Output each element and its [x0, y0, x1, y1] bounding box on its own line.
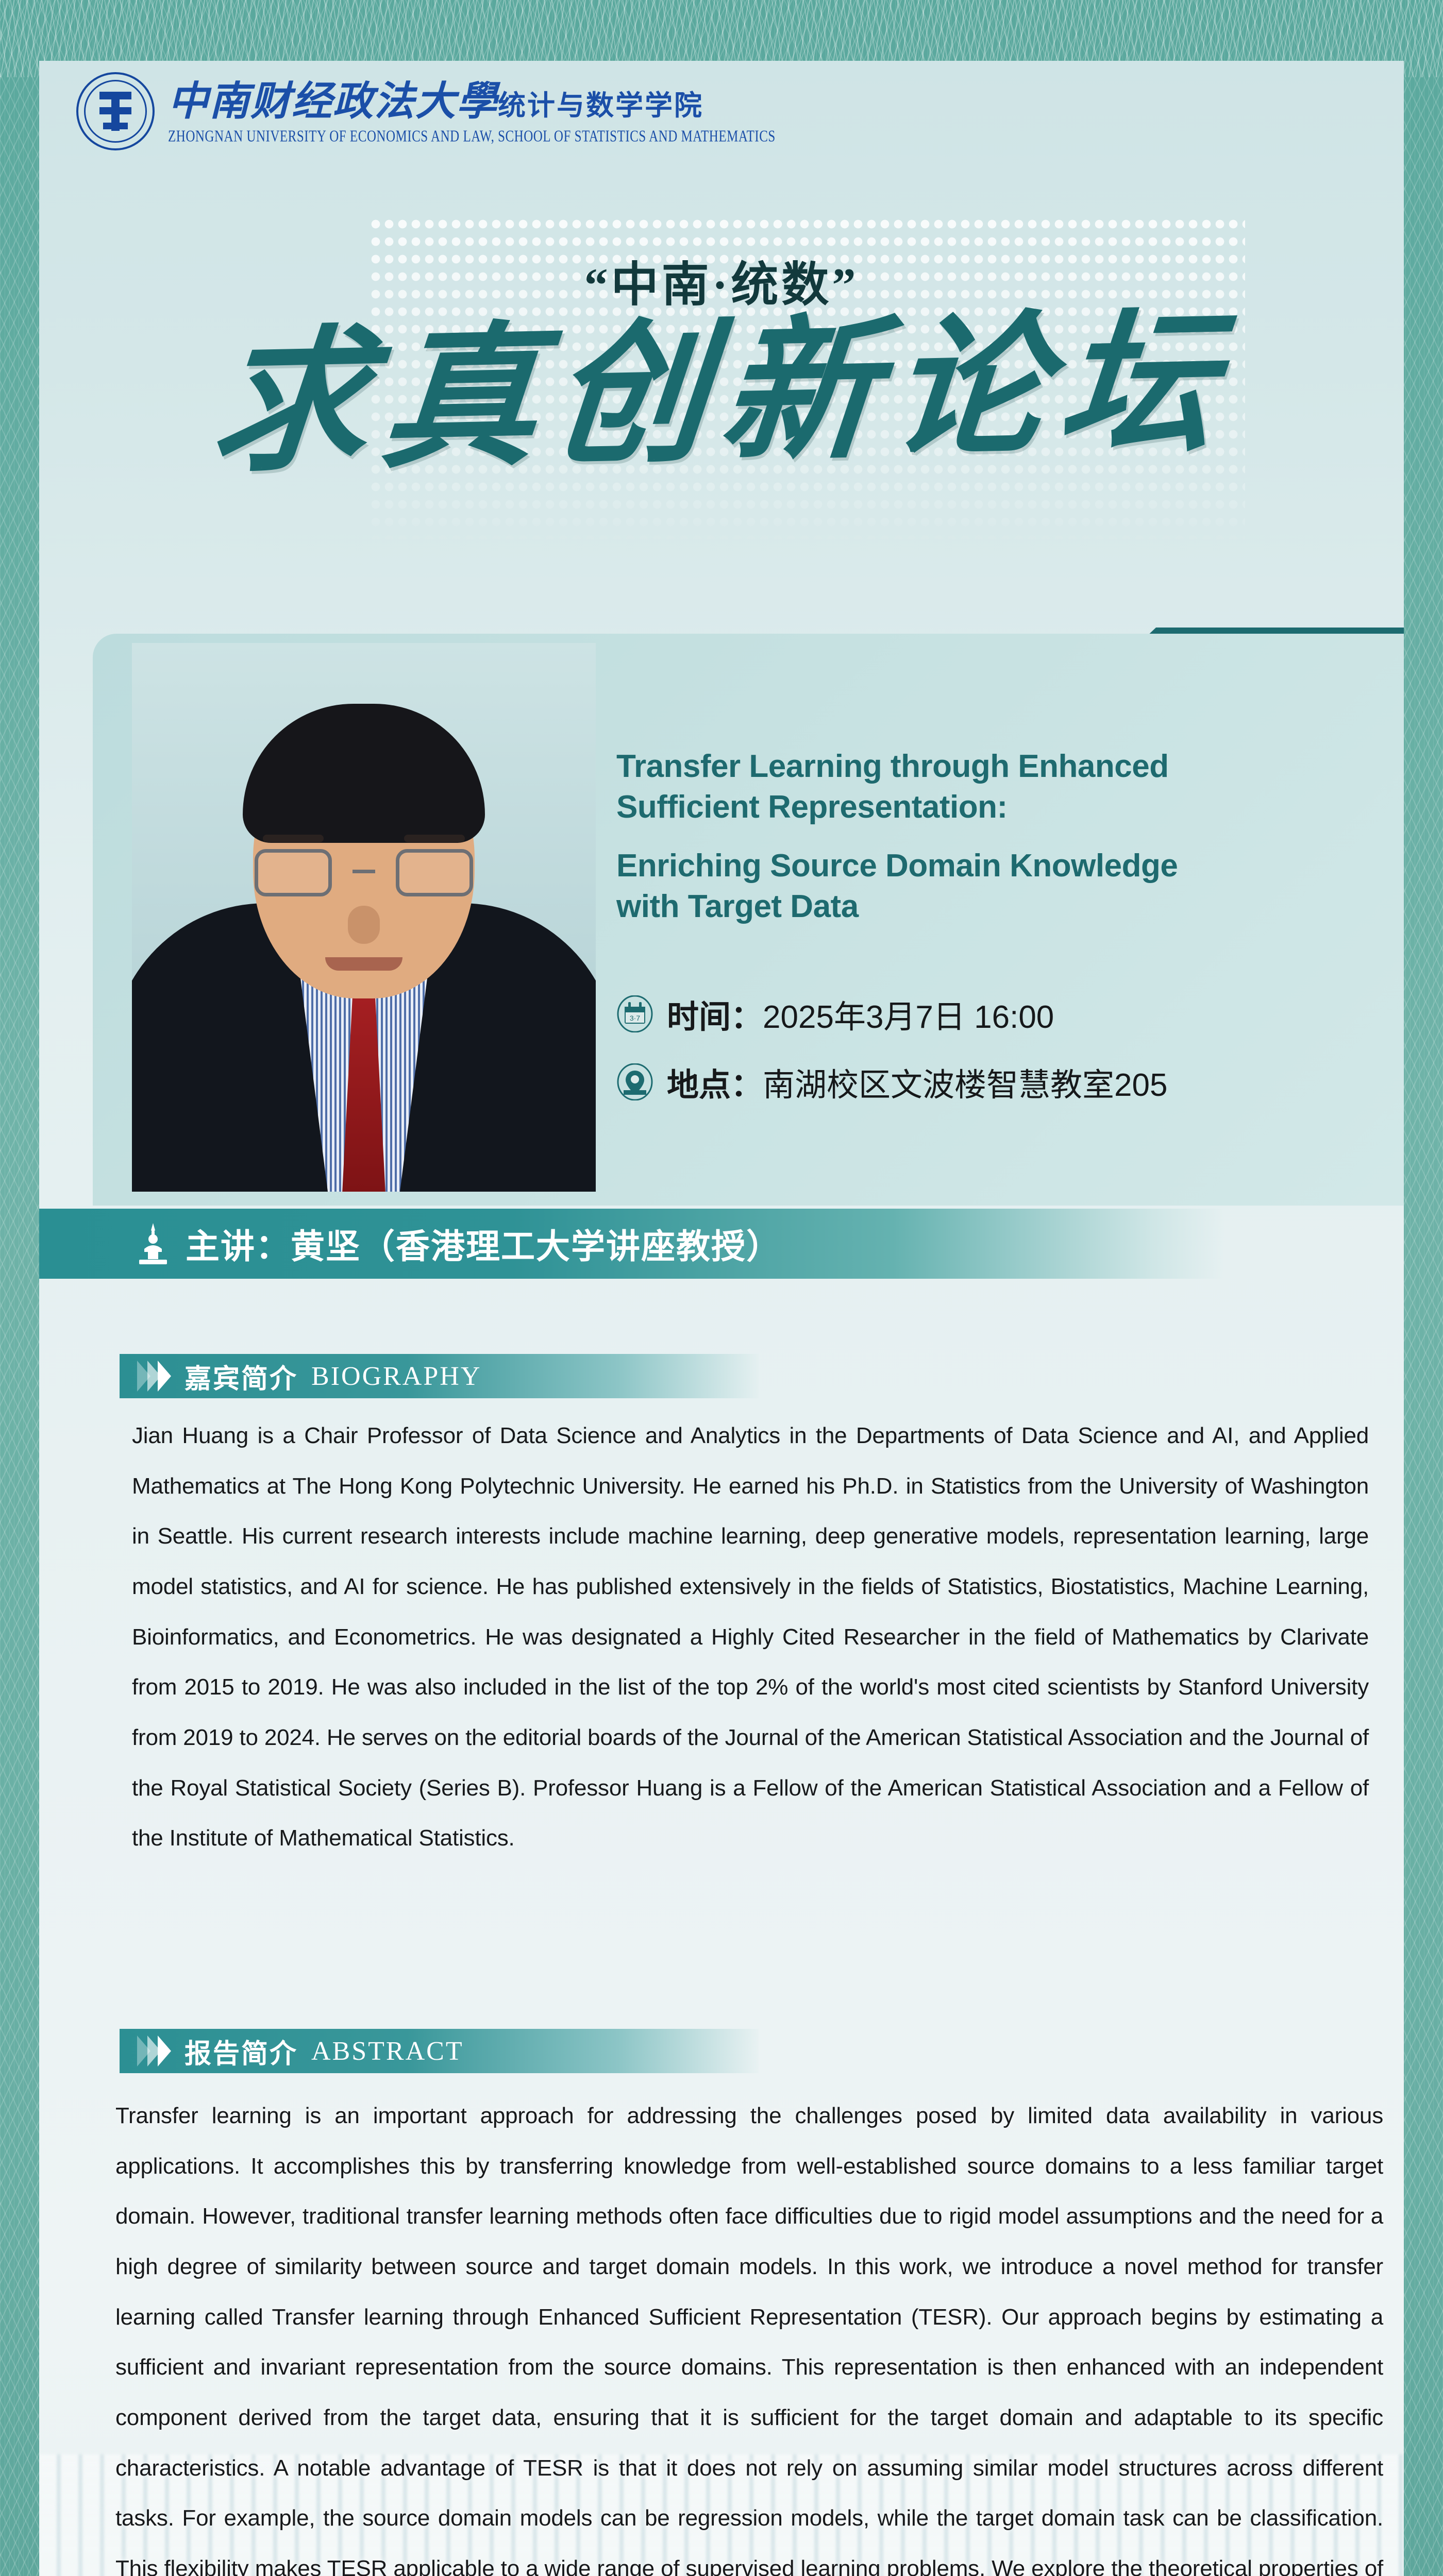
meta-row-location: 地点： 南湖校区文波楼智慧教室205 — [616, 1059, 1404, 1105]
portrait-eyeglass-left — [255, 849, 332, 896]
logo-school-name: 统计与数学学院 — [498, 90, 703, 121]
logo-chinese-name: 中南财经政法大學统计与数学学院 — [168, 80, 776, 123]
lecture-meta: 3·7 时间： 2025年3月7日 16:00 地点： 南湖校区文波楼智慧教室2 — [616, 991, 1404, 1127]
section-label-en-biography: BIOGRAPHY — [311, 1361, 481, 1392]
portrait-eyebrow-left — [263, 835, 324, 842]
chevron-layer-1 — [158, 2036, 171, 2066]
biography-body-text: Jian Huang is a Chair Professor of Data … — [132, 1411, 1369, 1863]
lecture-title-line-3: Enriching Source Domain Knowledge — [616, 845, 1404, 886]
meta-row-time: 3·7 时间： 2025年3月7日 16:00 — [616, 991, 1404, 1037]
chevron-layer-1 — [158, 1361, 171, 1392]
location-pin-icon — [616, 1063, 653, 1100]
university-seal-icon — [76, 72, 155, 150]
lecture-title-line-2: Sufficient Representation: — [616, 787, 1404, 827]
meta-value-time: 2025年3月7日 16:00 — [763, 991, 1054, 1037]
meta-label-location: 地点： — [667, 1059, 763, 1105]
lecture-title-line-4: with Target Data — [616, 886, 1404, 927]
section-label-cn-biography: 嘉宾简介 — [184, 1357, 298, 1396]
meta-value-location: 南湖校区文波楼智慧教室205 — [763, 1059, 1167, 1105]
chevron-right-icon — [137, 1361, 168, 1392]
speaker-name-line: 主讲：黄坚（香港理工大学讲座教授） — [186, 1219, 781, 1268]
lecture-title-part-1: Transfer Learning through Enhanced Suffi… — [616, 746, 1404, 828]
seal-glyph-icon — [99, 92, 131, 131]
section-label-en-abstract: ABSTRACT — [311, 2036, 464, 2066]
poster-frame: 中南财经政法大學统计与数学学院 ZHONGNAN UNIVERSITY OF E… — [0, 0, 1443, 2576]
portrait-eyebrow-right — [404, 835, 465, 842]
portrait-eyeglass-bridge — [353, 870, 375, 873]
svg-text:3·7: 3·7 — [630, 1014, 640, 1022]
forum-calligraphy-title: 求真创新论坛 — [39, 289, 1404, 499]
speaker-banner: 主讲：黄坚（香港理工大学讲座教授） — [39, 1209, 1224, 1279]
logo-university-name: 中南财经政法大學 — [168, 79, 498, 124]
calendar-icon: 3·7 — [616, 995, 653, 1032]
university-logo: 中南财经政法大學统计与数学学院 ZHONGNAN UNIVERSITY OF E… — [76, 72, 776, 150]
portrait-mouth — [325, 957, 402, 971]
section-header-abstract: 报告简介 ABSTRACT — [120, 2029, 759, 2073]
lecture-title: Transfer Learning through Enhanced Suffi… — [616, 746, 1404, 927]
meta-label-time: 时间： — [667, 991, 763, 1037]
portrait-illustration — [132, 643, 596, 1192]
section-label-cn-abstract: 报告简介 — [184, 2032, 298, 2071]
podium-speaker-icon — [134, 1222, 172, 1265]
poster-canvas: 中南财经政法大學统计与数学学院 ZHONGNAN UNIVERSITY OF E… — [39, 61, 1404, 2576]
logo-english-name: ZHONGNAN UNIVERSITY OF ECONOMICS AND LAW… — [168, 128, 776, 146]
lecture-title-line-1: Transfer Learning through Enhanced — [616, 746, 1404, 787]
speaker-portrait-photo — [132, 643, 596, 1192]
lecture-title-part-2: Enriching Source Domain Knowledge with T… — [616, 845, 1404, 927]
portrait-nose — [348, 906, 380, 944]
abstract-body-text: Transfer learning is an important approa… — [115, 2091, 1383, 2576]
chevron-right-icon — [137, 2036, 168, 2066]
portrait-eyeglass-right — [396, 849, 473, 896]
logo-text-block: 中南财经政法大學统计与数学学院 ZHONGNAN UNIVERSITY OF E… — [168, 80, 776, 142]
section-header-biography: 嘉宾简介 BIOGRAPHY — [120, 1354, 759, 1398]
